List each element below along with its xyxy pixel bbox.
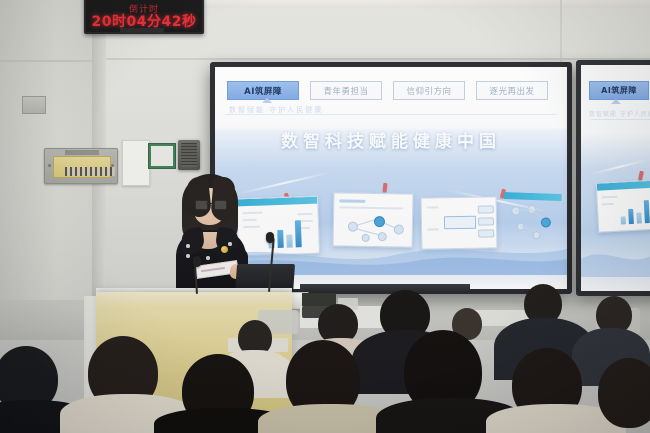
slide-divider: [225, 114, 557, 115]
secondary-thumb-dashboard: [596, 179, 650, 232]
slide-tab-2: 青年勇担当: [310, 81, 382, 100]
secondary-subtitle: 数智赋能 守护人民健康: [589, 109, 650, 118]
audience: [0, 280, 650, 433]
glasses-lens-left: [195, 200, 208, 210]
electrical-panel-inner: [53, 156, 111, 178]
thumb-edge: [531, 210, 543, 218]
thumb-bar: [621, 216, 626, 224]
garment-button: [228, 242, 232, 246]
thumb-button: [478, 205, 494, 213]
microphone-head: [266, 232, 274, 243]
secondary-tab-bar: AI筑屏障: [589, 81, 650, 100]
led-sign-caption: 倒计时: [129, 6, 159, 15]
panel-screw-left: [48, 164, 51, 167]
microphone-head: [193, 256, 201, 267]
thumb-line: [602, 203, 614, 206]
presenter-hair-front-left: [186, 176, 212, 218]
panel-screw-right: [111, 164, 114, 167]
secondary-slide: AI筑屏障 数智赋能 守护人民健康: [581, 65, 650, 291]
thumb-bar: [636, 212, 642, 223]
cue-card-text-line: [201, 267, 225, 272]
thumb-line: [427, 206, 439, 208]
presentation-slide: AI筑屏障 青年勇担当 信仰引方向 逐光再出发 数智赋能 守护人民健康 数智科技…: [215, 67, 567, 289]
glasses-icon: [195, 200, 225, 208]
electrical-panel: [44, 148, 118, 184]
notice-board-green-paper: [151, 146, 173, 166]
thumb-input: [444, 216, 476, 230]
thumb-node: [374, 216, 385, 227]
wall-outlet-panel: [22, 96, 46, 114]
circuit-breakers: [65, 167, 115, 176]
wall-seam-upper: [106, 58, 650, 60]
garment-button: [206, 256, 210, 260]
slide-title: 数智科技赋能健康中国: [215, 127, 567, 152]
presenter-hair-front-right: [210, 176, 236, 222]
thumb-button: [478, 217, 494, 225]
secondary-tab-1: AI筑屏障: [589, 81, 649, 100]
thumb-line: [601, 196, 617, 199]
led-sign-bracket: [120, 28, 164, 33]
thumb-bar: [628, 209, 634, 224]
thumb-bar: [644, 200, 650, 223]
secondary-divider: [591, 119, 650, 120]
secondary-display: AI筑屏障 数智赋能 守护人民健康: [576, 60, 650, 296]
glasses-bridge: [206, 203, 214, 204]
main-display: AI筑屏障 青年勇担当 信仰引方向 逐光再出发 数智赋能 守护人民健康 数智科技…: [210, 62, 572, 294]
wall-speaker: [178, 140, 200, 170]
slide-tab-caret: [262, 98, 272, 103]
slide-pin: [638, 171, 644, 181]
lecture-hall-photo: 倒计时 20时04分42秒 AI筑屏障 青年勇担当 信仰引方向 逐光再出发: [0, 0, 650, 433]
secondary-tab-caret: [611, 99, 621, 104]
slide-tab-bar: AI筑屏障 青年勇担当 信仰引方向 逐光再出发: [227, 81, 555, 100]
main-display-face: AI筑屏障 青年勇担当 信仰引方向 逐光再出发 数智赋能 守护人民健康 数智科技…: [215, 67, 567, 289]
gold-badge: [221, 246, 228, 253]
notice-board-white: [122, 140, 150, 186]
slide-pin: [383, 183, 388, 192]
notice-board-green: [148, 143, 176, 169]
thumb-node: [541, 217, 551, 227]
thumb-header-bar: [597, 180, 650, 190]
garment-button: [186, 244, 190, 248]
thumb-line: [339, 199, 365, 202]
thumb-header-bar: [504, 192, 562, 201]
secondary-wave-graphic: [581, 233, 650, 277]
speaker-grill: [181, 143, 197, 167]
wall-seam: [0, 60, 96, 62]
glasses-lens-right: [214, 200, 227, 210]
electrical-panel-label: [65, 150, 99, 155]
thumb-line: [339, 206, 403, 209]
garment-button: [186, 254, 190, 258]
slide-tab-4: 逐光再出发: [476, 81, 548, 100]
thumb-line: [298, 213, 313, 216]
slide-tab-3: 信仰引方向: [393, 81, 465, 100]
audience-head-front: [598, 358, 650, 428]
